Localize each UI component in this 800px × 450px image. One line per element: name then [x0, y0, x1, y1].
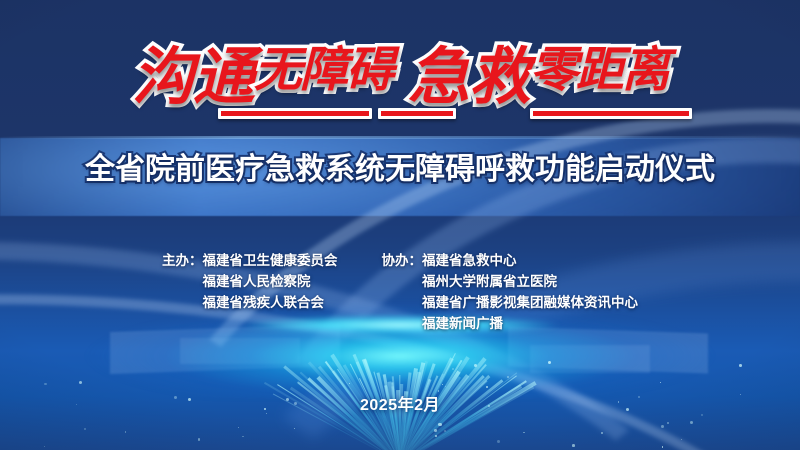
co-organizers-label: 协办： [382, 250, 423, 334]
event-date: 2025年2月 [0, 391, 800, 415]
co-organizer-item: 福建新闻广播 [422, 313, 638, 334]
co-organizer-item: 福建省急救中心 [422, 250, 638, 271]
organizer-item: 福建省人民检察院 [203, 271, 338, 292]
headline-part-3: 急救 [408, 43, 530, 112]
co-organizers-list: 福建省急救中心 福州大学附属省立医院 福建省广播影视集团融媒体资讯中心 福建新闻… [422, 250, 638, 334]
co-organizer-item: 福建省广播影视集团融媒体资讯中心 [422, 292, 638, 313]
headline-part-4: 零距离 [530, 44, 668, 97]
organizers-column: 主办： 福建省卫生健康委员会 福建省人民检察院 福建省残疾人联合会 [162, 250, 338, 334]
co-organizers-column: 协办： 福建省急救中心 福州大学附属省立医院 福建省广播影视集团融媒体资讯中心 … [382, 250, 639, 334]
headline-underline-bars [0, 108, 800, 122]
co-organizer-item: 福州大学附属省立医院 [422, 271, 638, 292]
poster-headline: 沟通无障碍急救零距离 [0, 47, 800, 109]
event-poster: 沟通无障碍急救零距离 全省院前医疗急救系统无障碍呼救功能启动仪式 主办： 福建省… [0, 0, 800, 450]
poster-subtitle: 全省院前医疗急救系统无障碍呼救功能启动仪式 [0, 155, 800, 185]
headline-part-2: 无障碍 [254, 44, 392, 97]
organizers-label: 主办： [162, 250, 203, 334]
poster-content: 沟通无障碍急救零距离 全省院前医疗急救系统无障碍呼救功能启动仪式 主办： 福建省… [0, 0, 800, 450]
organizer-item: 福建省卫生健康委员会 [203, 250, 338, 271]
organizer-item: 福建省残疾人联合会 [203, 292, 338, 313]
headline-underline-bar-3 [530, 108, 692, 119]
organizers-list: 福建省卫生健康委员会 福建省人民检察院 福建省残疾人联合会 [203, 250, 338, 334]
organizers-section: 主办： 福建省卫生健康委员会 福建省人民检察院 福建省残疾人联合会 协办： 福建… [0, 250, 800, 334]
headline-part-1: 沟通 [132, 43, 254, 112]
